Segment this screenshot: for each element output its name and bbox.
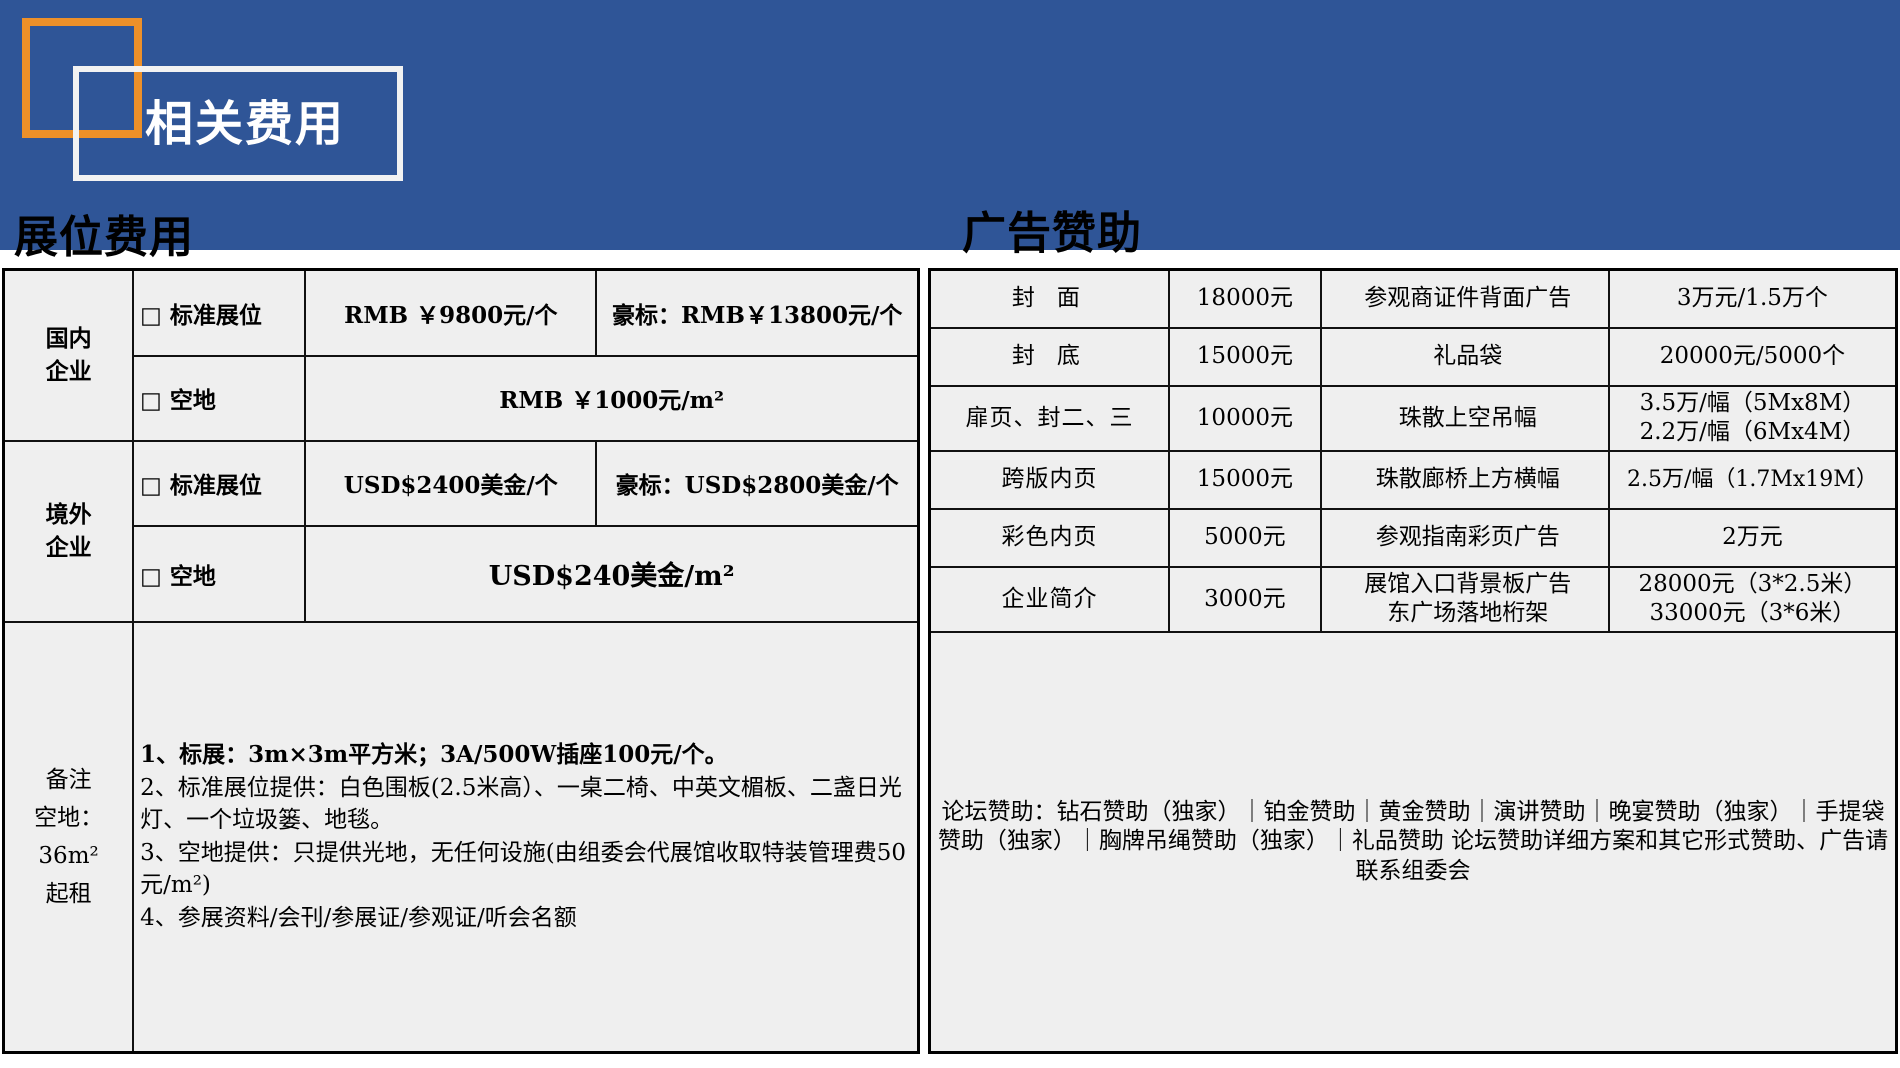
table-row: 企业简介 3000元 展馆入口背景板广告 东广场落地桁架 28000元（3*2.… [930,567,1897,632]
category-domestic: 国内 企业 [4,270,134,441]
ad-item-3-price: 15000元 [1169,451,1321,509]
table-row: 跨版内页 15000元 珠散廊桥上方横幅 2.5万/幅（1.7Mx19M） [930,451,1897,509]
table-row: □ 空地 RMB ￥1000元/m² [4,356,919,441]
booth-type-standard-overseas: □ 标准展位 [133,441,305,526]
booth-type-standard-domestic: □ 标准展位 [133,270,305,356]
table-row: 封 面 18000元 参观商证件背面广告 3万元/1.5万个 [930,270,1897,329]
note-item-1: 1、标展：3m×3m平方米；3A/500W插座100元/个。 [140,739,911,772]
table-row: 封 底 15000元 礼品袋 20000元/5000个 [930,328,1897,386]
ad-item-5-price: 3000元 [1169,567,1321,632]
ad-sponsorship-table: 封 面 18000元 参观商证件背面广告 3万元/1.5万个 封 底 15000… [928,268,1898,1054]
note-item-3: 3、空地提供：只提供光地，无任何设施(由组委会代展馆收取特装管理费50元/m²) [140,837,911,902]
notes-body: 1、标展：3m×3m平方米；3A/500W插座100元/个。 2、标准展位提供：… [133,622,918,1053]
price-overseas-open: USD$240美金/m² [305,526,918,622]
price-overseas-standard-deluxe: 豪标：USD$2800美金/个 [596,441,918,526]
ad-item-2-ad-price-line1: 3.5万/幅（5Mx8M） [1616,389,1889,418]
ad-item-1-price: 15000元 [1169,328,1321,386]
notes-label-line1: 备注 [46,767,92,793]
ad-item-3-ad-price: 2.5万/幅（1.7Mx19M） [1609,451,1897,509]
notes-label-line4: 起租 [46,881,92,907]
booth-type-open-overseas: □ 空地 [133,526,305,622]
category-overseas-line2: 企业 [46,534,92,561]
table-row: □ 空地 USD$240美金/m² [4,526,919,622]
ad-item-1-name: 封 底 [930,328,1170,386]
ad-item-5-name: 企业简介 [930,567,1170,632]
category-domestic-line1: 国内 [46,325,92,352]
sponsor-note: 论坛赞助：钻石赞助（独家）｜铂金赞助｜黄金赞助｜演讲赞助｜晚宴赞助（独家）｜手提… [930,632,1897,1053]
ad-item-0-ad-price: 3万元/1.5万个 [1609,270,1897,329]
category-domestic-line2: 企业 [46,358,92,385]
ad-item-5-ad-price-line2: 33000元（3*6米） [1616,599,1889,628]
ad-item-2-name: 扉页、封二、三 [930,386,1170,451]
booth-fee-table: 国内 企业 □ 标准展位 RMB ￥9800元/个 豪标：RMB￥13800元/… [2,268,920,1054]
ad-item-5-ad-name: 展馆入口背景板广告 东广场落地桁架 [1321,567,1609,632]
note-item-4: 4、参展资料/会刊/参展证/参观证/听会名额 [140,902,911,935]
table-row: 境外 企业 □ 标准展位 USD$2400美金/个 豪标：USD$2800美金/… [4,441,919,526]
price-overseas-standard: USD$2400美金/个 [305,441,596,526]
ad-item-5-ad-name-line2: 东广场落地桁架 [1334,599,1602,628]
page-title: 相关费用 [145,92,400,156]
ad-item-0-ad-name: 参观商证件背面广告 [1321,270,1609,329]
ad-item-5-ad-price: 28000元（3*2.5米） 33000元（3*6米） [1609,567,1897,632]
header-band: 相关费用 [0,0,1900,250]
ad-item-1-ad-price: 20000元/5000个 [1609,328,1897,386]
ad-item-4-ad-name: 参观指南彩页广告 [1321,509,1609,567]
table-row: 国内 企业 □ 标准展位 RMB ￥9800元/个 豪标：RMB￥13800元/… [4,270,919,356]
note-item-2: 2、标准展位提供：白色围板(2.5米高）、一桌二椅、中英文楣板、二盏日光灯、一个… [140,772,911,837]
notes-label-line2: 空地： [34,805,103,831]
ad-item-0-price: 18000元 [1169,270,1321,329]
ad-item-4-name: 彩色内页 [930,509,1170,567]
ad-item-3-ad-name: 珠散廊桥上方横幅 [1321,451,1609,509]
ad-item-1-ad-name: 礼品袋 [1321,328,1609,386]
booth-fee-section-title: 展位费用 [14,212,194,264]
ad-item-3-name: 跨版内页 [930,451,1170,509]
table-row-notes: 备注 空地： 36m² 起租 1、标展：3m×3m平方米；3A/500W插座10… [4,622,919,1053]
booth-type-open-domestic: □ 空地 [133,356,305,441]
ad-item-4-ad-price: 2万元 [1609,509,1897,567]
table-row: 彩色内页 5000元 参观指南彩页广告 2万元 [930,509,1897,567]
category-overseas-line1: 境外 [46,501,92,528]
price-domestic-standard: RMB ￥9800元/个 [305,270,596,356]
notes-label: 备注 空地： 36m² 起租 [4,622,134,1053]
ad-sponsorship-section-title: 广告赞助 [962,208,1142,260]
price-domestic-open: RMB ￥1000元/m² [305,356,918,441]
ad-item-4-price: 5000元 [1169,509,1321,567]
ad-item-0-name: 封 面 [930,270,1170,329]
ad-item-2-ad-price: 3.5万/幅（5Mx8M） 2.2万/幅（6Mx4M） [1609,386,1897,451]
category-overseas: 境外 企业 [4,441,134,622]
ad-item-5-ad-name-line1: 展馆入口背景板广告 [1334,570,1602,599]
table-row: 扉页、封二、三 10000元 珠散上空吊幅 3.5万/幅（5Mx8M） 2.2万… [930,386,1897,451]
ad-item-2-price: 10000元 [1169,386,1321,451]
notes-label-line3: 36m² [38,843,98,869]
ad-item-5-ad-price-line1: 28000元（3*2.5米） [1616,570,1889,599]
price-domestic-standard-deluxe: 豪标：RMB￥13800元/个 [596,270,918,356]
ad-item-2-ad-name: 珠散上空吊幅 [1321,386,1609,451]
table-row-sponsor-note: 论坛赞助：钻石赞助（独家）｜铂金赞助｜黄金赞助｜演讲赞助｜晚宴赞助（独家）｜手提… [930,632,1897,1053]
ad-item-2-ad-price-line2: 2.2万/幅（6Mx4M） [1616,418,1889,447]
